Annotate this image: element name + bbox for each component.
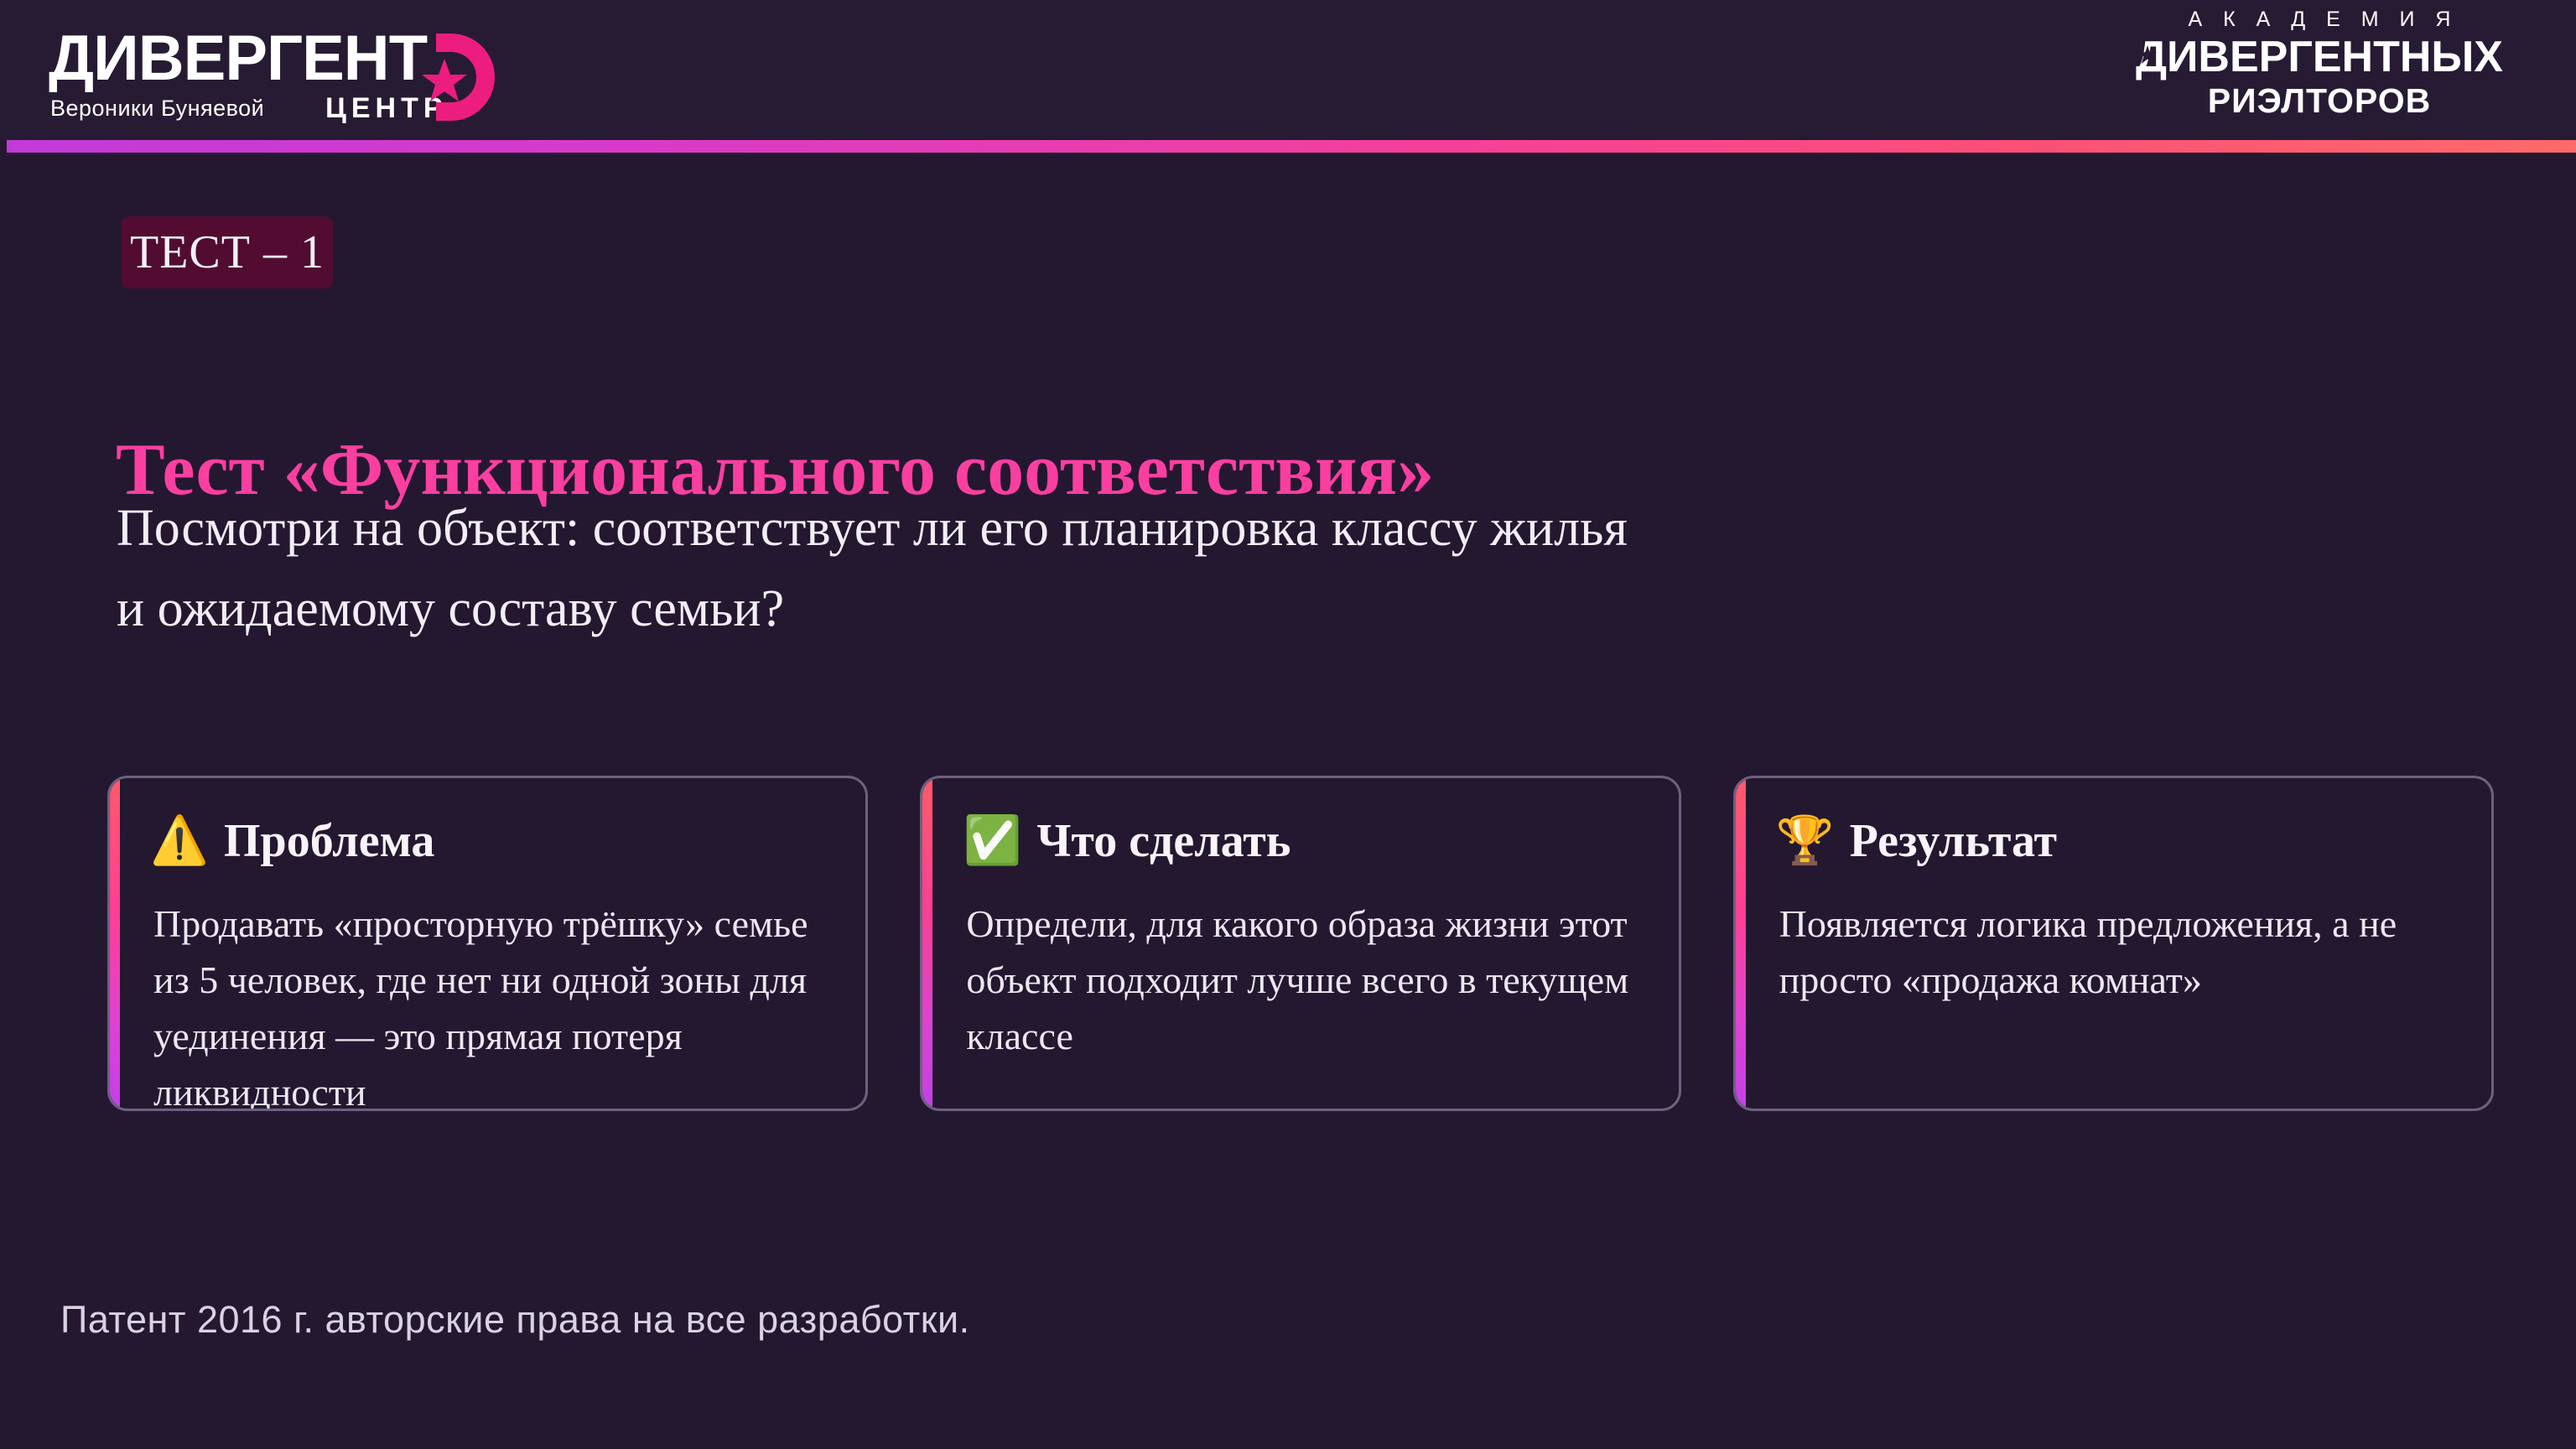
check-mark-icon: ✅ — [966, 815, 1018, 867]
card-header: 🏆 Результат — [1779, 815, 2454, 867]
academy-divergent-word: ДИВЕРГЕНТНЫХ — [2101, 34, 2537, 80]
card-accent-bar — [1736, 778, 1746, 1109]
trophy-icon: 🏆 — [1779, 815, 1831, 867]
brand-name-divergent: ДИВЕРГЕНТ — [49, 27, 427, 91]
card-header: ⚠️ Проблема — [153, 815, 828, 867]
card-body-text: Продавать «просторную трёшку» семье из 5… — [153, 896, 828, 1111]
academy-divergent-text: ДИВЕРГЕНТНЫХ — [2136, 33, 2503, 81]
brand-logo-left: ДИВЕРГЕНТ Вероники Буняевой ЦЕНТР — [49, 13, 552, 122]
card-title: Результат — [1850, 816, 2057, 866]
star-icon — [2138, 45, 2157, 64]
page-subtitle-line-2: и ожидаемому составу семьи? — [117, 569, 2129, 649]
card-header: ✅ Что сделать — [966, 815, 1641, 867]
star-icon — [421, 57, 468, 104]
academy-word: А К А Д Е М И Я — [2101, 5, 2537, 34]
header-gradient-divider — [7, 140, 2576, 153]
card-problem: ⚠️ Проблема Продавать «просторную трёшку… — [107, 776, 868, 1111]
card-result: 🏆 Результат Появляется логика предложени… — [1733, 776, 2494, 1111]
test-number-badge: ТЕСТ – 1 — [122, 216, 333, 288]
card-row: ⚠️ Проблема Продавать «просторную трёшку… — [107, 776, 2494, 1111]
card-body-text: Определи, для какого образа жизни этот о… — [966, 896, 1641, 1064]
academy-realtors-word: РИЭЛТОРОВ — [2101, 80, 2537, 121]
warning-icon: ⚠️ — [153, 815, 205, 867]
card-accent-bar — [110, 778, 120, 1109]
card-body-text: Появляется логика предложения, а не прос… — [1779, 896, 2454, 1008]
card-what-to-do: ✅ Что сделать Определи, для какого образ… — [920, 776, 1680, 1111]
card-accent-bar — [922, 778, 932, 1109]
page-subtitle: Посмотри на объект: соответствует ли его… — [117, 488, 2129, 649]
brand-logo-right: А К А Д Е М И Я ДИВЕРГЕНТНЫХ РИЭЛТОРОВ — [2101, 5, 2537, 121]
page-subtitle-line-1: Посмотри на объект: соответствует ли его… — [117, 488, 2129, 569]
card-title: Что сделать — [1036, 816, 1291, 866]
brand-subtitle-veroniki: Вероники Буняевой — [50, 96, 264, 122]
copyright-footer: Патент 2016 г. авторские права на все ра… — [60, 1298, 970, 1342]
slide-header: ДИВЕРГЕНТ Вероники Буняевой ЦЕНТР А К А … — [0, 0, 2576, 140]
card-title: Проблема — [224, 816, 434, 866]
test-number-badge-label: ТЕСТ – 1 — [130, 226, 325, 279]
